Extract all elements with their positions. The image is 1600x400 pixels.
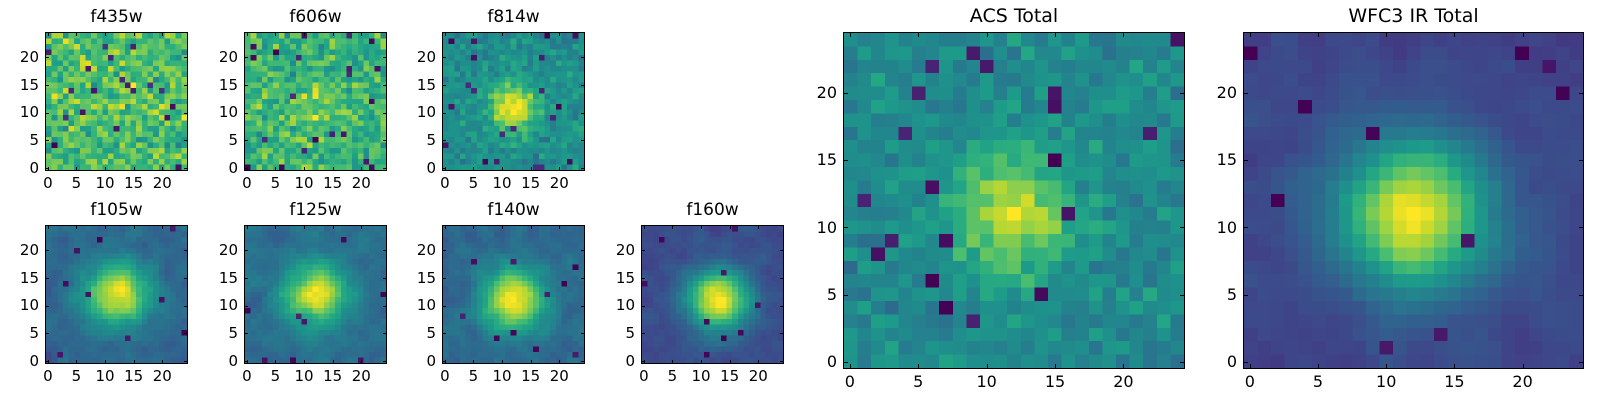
y-tick bbox=[45, 85, 49, 86]
y-tick bbox=[383, 361, 387, 362]
x-tick bbox=[559, 225, 560, 229]
y-tick bbox=[780, 250, 784, 251]
x-tick bbox=[918, 32, 919, 37]
x-tick bbox=[333, 360, 334, 364]
y-tick-label: 0 bbox=[589, 352, 635, 370]
x-tick bbox=[1123, 32, 1124, 37]
heatmap-axes bbox=[442, 225, 585, 364]
y-tick-label: 0 bbox=[192, 159, 238, 177]
y-tick bbox=[843, 362, 848, 363]
x-tick bbox=[361, 32, 362, 36]
x-tick bbox=[162, 225, 163, 229]
x-tick bbox=[304, 225, 305, 229]
y-tick bbox=[244, 333, 248, 334]
y-tick bbox=[1180, 160, 1185, 161]
x-tick bbox=[134, 360, 135, 364]
y-tick-label: 0 bbox=[192, 352, 238, 370]
x-tick-label: 10 bbox=[1364, 372, 1408, 391]
y-tick-label: 10 bbox=[1191, 218, 1237, 237]
y-tick-label: 15 bbox=[791, 150, 837, 169]
y-tick bbox=[581, 361, 585, 362]
y-tick bbox=[383, 306, 387, 307]
heatmap-axes bbox=[641, 225, 784, 364]
x-tick bbox=[1523, 364, 1524, 369]
x-tick bbox=[162, 360, 163, 364]
x-tick bbox=[76, 360, 77, 364]
x-tick bbox=[134, 225, 135, 229]
x-tick bbox=[445, 32, 446, 36]
x-tick bbox=[1523, 32, 1524, 37]
y-tick bbox=[244, 57, 248, 58]
y-tick bbox=[1579, 295, 1584, 296]
heatmap-axes bbox=[244, 32, 387, 171]
x-tick bbox=[134, 167, 135, 171]
y-tick bbox=[843, 227, 848, 228]
x-tick bbox=[1386, 32, 1387, 37]
y-tick bbox=[184, 57, 188, 58]
x-tick bbox=[247, 32, 248, 36]
y-tick-label: 20 bbox=[0, 241, 39, 259]
y-tick bbox=[244, 140, 248, 141]
x-tick bbox=[361, 167, 362, 171]
x-tick-label: 5 bbox=[896, 372, 940, 391]
y-tick bbox=[383, 57, 387, 58]
x-tick bbox=[758, 225, 759, 229]
y-tick bbox=[184, 140, 188, 141]
y-tick-label: 5 bbox=[192, 324, 238, 342]
y-tick bbox=[45, 278, 49, 279]
x-tick bbox=[502, 225, 503, 229]
heatmap-image bbox=[642, 226, 783, 363]
x-tick bbox=[275, 32, 276, 36]
y-tick bbox=[442, 361, 446, 362]
heatmap-image bbox=[443, 33, 584, 170]
x-tick bbox=[473, 32, 474, 36]
y-tick bbox=[442, 140, 446, 141]
x-tick-label: 20 bbox=[736, 367, 780, 385]
heatmap-image bbox=[844, 33, 1184, 368]
y-tick bbox=[843, 93, 848, 94]
x-tick bbox=[361, 360, 362, 364]
heatmap-axes bbox=[1243, 32, 1584, 369]
x-tick bbox=[48, 225, 49, 229]
x-tick bbox=[1318, 364, 1319, 369]
x-tick bbox=[445, 225, 446, 229]
y-tick bbox=[184, 168, 188, 169]
y-tick bbox=[184, 278, 188, 279]
x-tick-label: 15 bbox=[1432, 372, 1476, 391]
y-tick bbox=[184, 333, 188, 334]
heatmap-axes bbox=[45, 225, 188, 364]
y-tick bbox=[1579, 160, 1584, 161]
x-tick-label: 20 bbox=[1101, 372, 1145, 391]
y-tick bbox=[581, 306, 585, 307]
x-tick bbox=[275, 167, 276, 171]
x-tick bbox=[701, 360, 702, 364]
y-tick-label: 5 bbox=[1191, 285, 1237, 304]
x-tick bbox=[559, 32, 560, 36]
x-tick-label: 20 bbox=[537, 174, 581, 192]
x-tick bbox=[531, 360, 532, 364]
y-tick-label: 5 bbox=[0, 324, 39, 342]
x-tick bbox=[987, 32, 988, 37]
y-tick-label: 5 bbox=[0, 131, 39, 149]
y-tick bbox=[184, 306, 188, 307]
y-tick bbox=[184, 113, 188, 114]
y-tick-label: 15 bbox=[192, 76, 238, 94]
x-tick-label: 0 bbox=[828, 372, 872, 391]
y-tick bbox=[641, 278, 645, 279]
y-tick bbox=[383, 333, 387, 334]
y-tick-label: 20 bbox=[192, 48, 238, 66]
y-tick-label: 10 bbox=[192, 103, 238, 121]
y-tick-label: 5 bbox=[589, 324, 635, 342]
y-tick bbox=[1243, 295, 1248, 296]
x-tick bbox=[162, 167, 163, 171]
x-tick bbox=[850, 364, 851, 369]
y-tick bbox=[581, 168, 585, 169]
x-tick bbox=[1055, 364, 1056, 369]
y-tick bbox=[1180, 295, 1185, 296]
y-tick-label: 10 bbox=[390, 296, 436, 314]
panel-title: f814w bbox=[442, 7, 585, 27]
heatmap-axes bbox=[244, 225, 387, 364]
x-tick-label: 20 bbox=[140, 174, 184, 192]
y-tick bbox=[442, 85, 446, 86]
panel-title: f105w bbox=[45, 200, 188, 220]
x-tick bbox=[644, 225, 645, 229]
heatmap-axes bbox=[442, 32, 585, 171]
y-tick-label: 20 bbox=[390, 48, 436, 66]
y-tick bbox=[244, 85, 248, 86]
y-tick bbox=[244, 168, 248, 169]
x-tick bbox=[275, 360, 276, 364]
y-tick bbox=[383, 85, 387, 86]
y-tick bbox=[442, 57, 446, 58]
panel-title: f606w bbox=[244, 7, 387, 27]
y-tick-label: 10 bbox=[791, 218, 837, 237]
y-tick-label: 20 bbox=[0, 48, 39, 66]
y-tick-label: 0 bbox=[0, 159, 39, 177]
y-tick-label: 0 bbox=[0, 352, 39, 370]
x-tick bbox=[48, 32, 49, 36]
y-tick-label: 15 bbox=[192, 269, 238, 287]
y-tick bbox=[641, 306, 645, 307]
y-tick-label: 0 bbox=[1191, 352, 1237, 371]
y-tick bbox=[45, 168, 49, 169]
y-tick-label: 5 bbox=[192, 131, 238, 149]
y-tick bbox=[780, 306, 784, 307]
x-tick bbox=[559, 360, 560, 364]
y-tick bbox=[581, 250, 585, 251]
y-tick-label: 5 bbox=[791, 285, 837, 304]
panel-title: f435w bbox=[45, 7, 188, 27]
heatmap-image bbox=[245, 226, 386, 363]
y-tick-label: 15 bbox=[589, 269, 635, 287]
y-tick bbox=[244, 361, 248, 362]
x-tick bbox=[333, 32, 334, 36]
x-tick-label: 0 bbox=[1228, 372, 1272, 391]
x-tick bbox=[76, 167, 77, 171]
y-tick bbox=[45, 140, 49, 141]
x-tick bbox=[333, 225, 334, 229]
x-tick bbox=[531, 225, 532, 229]
y-tick bbox=[45, 306, 49, 307]
x-tick bbox=[502, 167, 503, 171]
x-tick bbox=[701, 225, 702, 229]
x-tick-label: 20 bbox=[339, 174, 383, 192]
x-tick bbox=[473, 225, 474, 229]
y-tick bbox=[442, 333, 446, 334]
y-tick-label: 10 bbox=[192, 296, 238, 314]
y-tick bbox=[1243, 362, 1248, 363]
x-tick bbox=[672, 225, 673, 229]
x-tick bbox=[730, 225, 731, 229]
y-tick bbox=[641, 361, 645, 362]
heatmap-image bbox=[46, 226, 187, 363]
x-tick bbox=[502, 360, 503, 364]
x-tick bbox=[304, 360, 305, 364]
x-tick bbox=[473, 360, 474, 364]
x-tick-label: 20 bbox=[537, 367, 581, 385]
x-tick bbox=[559, 167, 560, 171]
x-tick bbox=[1250, 32, 1251, 37]
y-tick bbox=[45, 361, 49, 362]
y-tick bbox=[780, 278, 784, 279]
x-tick bbox=[247, 225, 248, 229]
panel-title: f140w bbox=[442, 200, 585, 220]
heatmap-image bbox=[1244, 33, 1583, 368]
y-tick bbox=[1180, 362, 1185, 363]
y-tick-label: 5 bbox=[390, 131, 436, 149]
x-tick bbox=[333, 167, 334, 171]
x-tick bbox=[1055, 32, 1056, 37]
y-tick bbox=[184, 361, 188, 362]
x-tick bbox=[275, 225, 276, 229]
x-tick bbox=[730, 360, 731, 364]
y-tick bbox=[442, 278, 446, 279]
y-tick bbox=[244, 250, 248, 251]
y-tick bbox=[1180, 93, 1185, 94]
y-tick bbox=[1579, 362, 1584, 363]
y-tick bbox=[1579, 227, 1584, 228]
y-tick bbox=[45, 333, 49, 334]
x-tick bbox=[304, 32, 305, 36]
x-tick bbox=[304, 167, 305, 171]
y-tick bbox=[383, 278, 387, 279]
heatmap-axes bbox=[843, 32, 1185, 369]
y-tick bbox=[383, 140, 387, 141]
x-tick bbox=[850, 32, 851, 37]
y-tick bbox=[843, 160, 848, 161]
y-tick bbox=[581, 113, 585, 114]
x-tick bbox=[918, 364, 919, 369]
x-tick-label: 20 bbox=[1501, 372, 1545, 391]
y-tick bbox=[45, 113, 49, 114]
y-tick bbox=[581, 140, 585, 141]
y-tick bbox=[244, 278, 248, 279]
y-tick-label: 0 bbox=[390, 159, 436, 177]
y-tick bbox=[442, 113, 446, 114]
x-tick bbox=[105, 32, 106, 36]
x-tick bbox=[987, 364, 988, 369]
y-tick-label: 0 bbox=[791, 352, 837, 371]
y-tick-label: 15 bbox=[1191, 150, 1237, 169]
panel-title: f160w bbox=[641, 200, 784, 220]
y-tick bbox=[641, 333, 645, 334]
heatmap-image bbox=[46, 33, 187, 170]
x-tick bbox=[105, 360, 106, 364]
y-tick bbox=[45, 57, 49, 58]
y-tick bbox=[1243, 160, 1248, 161]
x-tick-label: 15 bbox=[1033, 372, 1077, 391]
y-tick bbox=[1243, 93, 1248, 94]
x-tick-label: 20 bbox=[140, 367, 184, 385]
y-tick-label: 10 bbox=[390, 103, 436, 121]
panel-title: ACS Total bbox=[843, 5, 1185, 27]
y-tick-label: 20 bbox=[589, 241, 635, 259]
x-tick bbox=[1318, 32, 1319, 37]
heatmap-image bbox=[443, 226, 584, 363]
heatmap-axes bbox=[45, 32, 188, 171]
heatmap-image bbox=[245, 33, 386, 170]
y-tick bbox=[244, 306, 248, 307]
y-tick bbox=[383, 250, 387, 251]
y-tick-label: 15 bbox=[0, 76, 39, 94]
x-tick bbox=[76, 32, 77, 36]
panel-title: WFC3 IR Total bbox=[1243, 5, 1584, 27]
y-tick bbox=[442, 306, 446, 307]
x-tick-label: 20 bbox=[339, 367, 383, 385]
x-tick bbox=[672, 360, 673, 364]
y-tick-label: 20 bbox=[1191, 83, 1237, 102]
x-tick bbox=[473, 167, 474, 171]
y-tick bbox=[442, 168, 446, 169]
x-tick bbox=[1250, 364, 1251, 369]
y-tick bbox=[184, 250, 188, 251]
y-tick bbox=[581, 278, 585, 279]
x-tick bbox=[758, 360, 759, 364]
y-tick bbox=[383, 113, 387, 114]
x-tick bbox=[134, 32, 135, 36]
y-tick bbox=[1579, 93, 1584, 94]
y-tick-label: 15 bbox=[390, 76, 436, 94]
x-tick bbox=[531, 32, 532, 36]
x-tick-label: 5 bbox=[1296, 372, 1340, 391]
y-tick bbox=[1243, 227, 1248, 228]
y-tick bbox=[442, 250, 446, 251]
y-tick-label: 10 bbox=[0, 103, 39, 121]
x-tick bbox=[531, 167, 532, 171]
y-tick-label: 5 bbox=[390, 324, 436, 342]
y-tick bbox=[581, 57, 585, 58]
x-tick bbox=[162, 32, 163, 36]
y-tick-label: 20 bbox=[390, 241, 436, 259]
x-tick bbox=[105, 167, 106, 171]
y-tick-label: 10 bbox=[0, 296, 39, 314]
y-tick-label: 20 bbox=[791, 83, 837, 102]
y-tick-label: 15 bbox=[390, 269, 436, 287]
y-tick bbox=[244, 113, 248, 114]
x-tick bbox=[502, 32, 503, 36]
y-tick bbox=[184, 85, 188, 86]
x-tick bbox=[105, 225, 106, 229]
y-tick bbox=[780, 361, 784, 362]
y-tick-label: 0 bbox=[390, 352, 436, 370]
x-tick bbox=[1123, 364, 1124, 369]
y-tick bbox=[383, 168, 387, 169]
y-tick-label: 10 bbox=[589, 296, 635, 314]
y-tick bbox=[780, 333, 784, 334]
y-tick-label: 20 bbox=[192, 241, 238, 259]
x-tick bbox=[1454, 32, 1455, 37]
x-tick bbox=[361, 225, 362, 229]
y-tick bbox=[581, 333, 585, 334]
y-tick bbox=[581, 85, 585, 86]
x-tick bbox=[76, 225, 77, 229]
x-tick bbox=[1386, 364, 1387, 369]
y-tick bbox=[1180, 227, 1185, 228]
panel-title: f125w bbox=[244, 200, 387, 220]
y-tick-label: 15 bbox=[0, 269, 39, 287]
x-tick-label: 10 bbox=[965, 372, 1009, 391]
y-tick bbox=[45, 250, 49, 251]
x-tick bbox=[1454, 364, 1455, 369]
y-tick bbox=[641, 250, 645, 251]
y-tick bbox=[843, 295, 848, 296]
